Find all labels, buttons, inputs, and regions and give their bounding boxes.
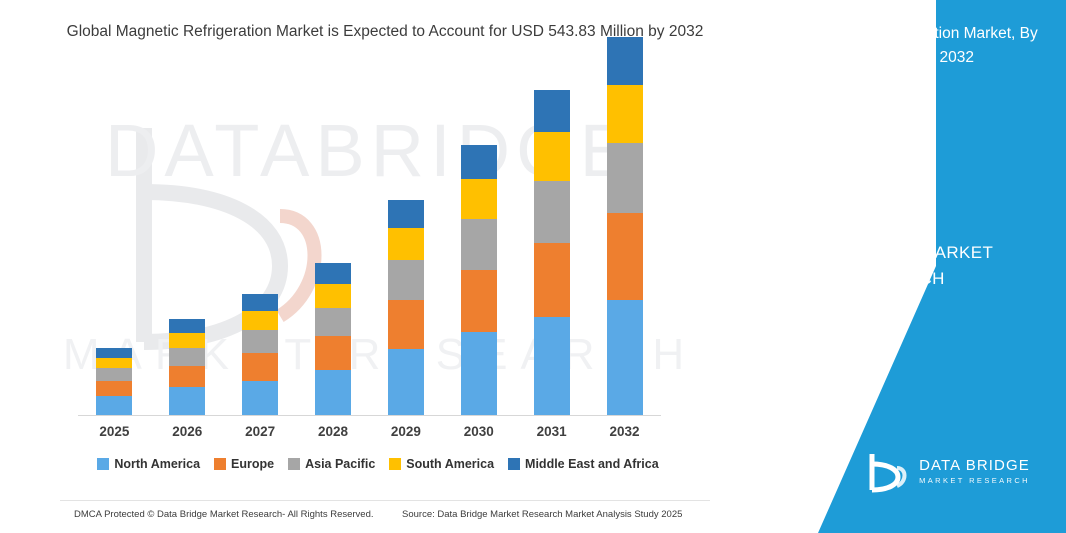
footer-source: Source: Data Bridge Market Research Mark…: [402, 509, 682, 520]
brand-logo-name: DATA BRIDGE: [919, 457, 1030, 474]
bar-segment: [534, 181, 570, 243]
footer: DMCA Protected © Data Bridge Market Rese…: [0, 500, 746, 533]
stacked-bar: [315, 263, 351, 415]
bar-segment: [534, 317, 570, 415]
bar-segment: [242, 294, 278, 311]
bar-column: [151, 96, 224, 415]
bar-segment: [242, 381, 278, 415]
brand-logo-text: DATA BRIDGE MARKET RESEARCH: [919, 457, 1030, 487]
legend-label: Asia Pacific: [305, 457, 375, 471]
bar-segment: [96, 396, 132, 415]
bar-segment: [607, 85, 643, 142]
bar-segment: [169, 348, 205, 366]
x-axis-tick-label: 2026: [151, 424, 224, 439]
hexagon-badge-2025: 2025: [831, 93, 915, 189]
bar-column: [78, 96, 151, 415]
legend-swatch: [288, 458, 300, 470]
brand-logo-mark: [867, 451, 909, 493]
bar-segment: [461, 179, 497, 219]
bar-segment: [315, 263, 351, 284]
bar-segment: [388, 349, 424, 415]
bar-segment: [461, 145, 497, 179]
infographic-page: DATABRIDGE MARKET RESEARCH Global Magnet…: [0, 0, 1066, 533]
x-axis-tick-labels: 20252026202720282029203020312032: [78, 424, 661, 439]
bar-segment: [534, 243, 570, 317]
bar-segment: [315, 336, 351, 370]
bar-segment: [607, 143, 643, 213]
legend-item: Middle East and Africa: [508, 457, 659, 471]
bar-segment: [169, 387, 205, 415]
bar-segment: [315, 308, 351, 337]
legend-label: Middle East and Africa: [525, 457, 659, 471]
data-bridge-b-icon: [867, 451, 909, 493]
stacked-bar: [169, 319, 205, 415]
brand-name-line1: DATA BRIDGE MARKET: [741, 243, 1051, 263]
bar-column: [224, 96, 297, 415]
bar-segment: [461, 219, 497, 270]
x-axis-tick-label: 2029: [370, 424, 443, 439]
footer-divider: [60, 500, 710, 501]
x-axis-tick-label: 2025: [78, 424, 151, 439]
bar-column: [297, 96, 370, 415]
legend-label: North America: [114, 457, 200, 471]
bar-column: [515, 96, 588, 415]
bar-segment: [169, 366, 205, 387]
bar-segment: [607, 300, 643, 415]
bar-segment: [607, 37, 643, 86]
brand-logo-tagline: MARKET RESEARCH: [919, 474, 1030, 487]
bar-segment: [607, 213, 643, 300]
bar-segment: [242, 353, 278, 381]
x-axis-tick-label: 2027: [224, 424, 297, 439]
bar-segment: [388, 300, 424, 349]
hexagon-badge-2025-label: 2025: [856, 133, 889, 150]
legend-item: North America: [97, 457, 200, 471]
stacked-bar: [388, 200, 424, 415]
bar-group: [78, 96, 661, 415]
bar-segment: [388, 260, 424, 300]
x-axis-line: [78, 415, 661, 416]
legend-label: South America: [406, 457, 494, 471]
brand-name-line2: RESEARCH: [741, 269, 1051, 289]
bar-segment: [169, 333, 205, 348]
legend-swatch: [97, 458, 109, 470]
bar-column: [370, 96, 443, 415]
x-axis-tick-label: 2028: [297, 424, 370, 439]
bar-segment: [242, 330, 278, 353]
legend-swatch: [214, 458, 226, 470]
bar-segment: [242, 311, 278, 330]
legend-swatch: [389, 458, 401, 470]
stacked-bar: [96, 348, 132, 415]
stacked-bar: [607, 37, 643, 416]
bar-segment: [315, 284, 351, 307]
x-axis-tick-label: 2031: [515, 424, 588, 439]
bar-segment: [96, 358, 132, 369]
bar-segment: [315, 370, 351, 415]
x-axis-tick-label: 2030: [442, 424, 515, 439]
stacked-bar: [461, 145, 497, 415]
bar-segment: [534, 132, 570, 181]
chart-legend: North AmericaEuropeAsia PacificSouth Ame…: [78, 457, 678, 471]
stacked-bar: [242, 294, 278, 415]
bar-segment: [534, 90, 570, 133]
brand-logo: DATA BRIDGE MARKET RESEARCH: [867, 451, 1030, 493]
bar-segment: [96, 348, 132, 358]
bar-segment: [96, 368, 132, 381]
legend-label: Europe: [231, 457, 274, 471]
bar-segment: [461, 270, 497, 332]
legend-item: Europe: [214, 457, 274, 471]
bar-segment: [96, 381, 132, 396]
brand-panel-content: Global Magnetic Refrigeration Market, By…: [646, 0, 1066, 533]
bar-segment: [169, 319, 205, 333]
legend-swatch: [508, 458, 520, 470]
stacked-bar: [534, 90, 570, 415]
bar-column: [442, 96, 515, 415]
hexagon-badge-2032-label: 2032: [793, 170, 826, 187]
bar-segment: [461, 332, 497, 415]
bar-segment: [388, 228, 424, 260]
bar-segment: [388, 200, 424, 228]
footer-copyright: DMCA Protected © Data Bridge Market Rese…: [74, 509, 374, 520]
chart-plot-area: [78, 96, 678, 416]
legend-item: South America: [389, 457, 494, 471]
legend-item: Asia Pacific: [288, 457, 375, 471]
panel-title: Global Magnetic Refrigeration Market, By…: [741, 22, 1051, 70]
